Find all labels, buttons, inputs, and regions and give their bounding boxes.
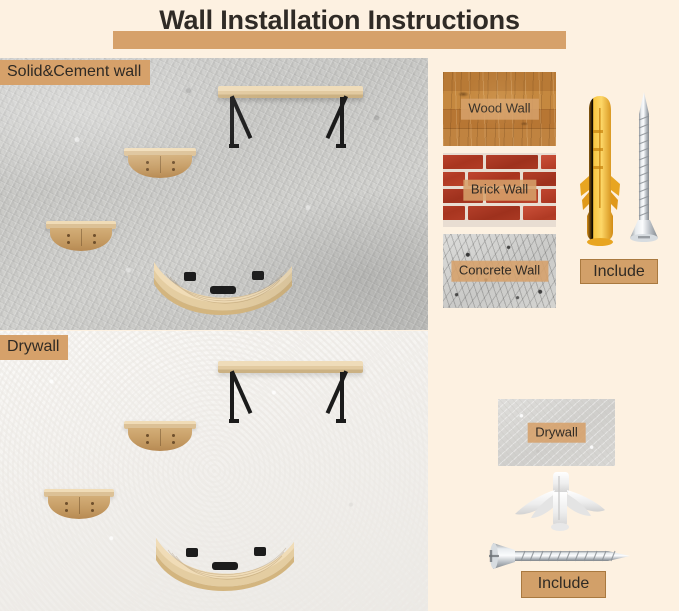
step-screw-hole xyxy=(93,234,96,237)
silver-screw-vertical-icon xyxy=(626,90,662,250)
step-screw-hole xyxy=(172,441,175,444)
step-screw-hole xyxy=(67,241,70,244)
brick xyxy=(443,206,465,220)
step-screw-hole xyxy=(65,509,68,512)
brick xyxy=(468,206,520,220)
product-cat-step-upper-drywall xyxy=(124,421,196,455)
brick xyxy=(486,155,538,169)
swatch-wood-wall: Wood Wall xyxy=(443,72,556,146)
include-label-drywall-hardware: Include xyxy=(521,571,606,598)
brick xyxy=(541,155,556,169)
swatch-concrete-wall: Concrete Wall xyxy=(443,234,556,308)
step-screw-hole xyxy=(146,168,149,171)
step-screw-hole xyxy=(91,509,94,512)
shelf-bracket-left-foot xyxy=(229,419,239,423)
step-screw-hole xyxy=(172,434,175,437)
product-wall-shelf-drywall xyxy=(218,361,363,431)
step-seam xyxy=(160,156,161,173)
product-cat-step-lower-cement xyxy=(46,221,116,255)
shelf-bracket-right-foot xyxy=(336,419,346,423)
include-label-solid-hardware: Include xyxy=(580,259,658,284)
product-cat-bridge-drywall xyxy=(150,534,300,596)
step-screw-hole xyxy=(146,161,149,164)
step-screw-hole xyxy=(65,502,68,505)
shelf-bracket-right-diagonal xyxy=(326,95,348,139)
step-screw-hole xyxy=(146,441,149,444)
swatch-label-concrete-wall: Concrete Wall xyxy=(451,261,548,282)
product-cat-step-lower-drywall xyxy=(44,489,114,523)
product-wall-shelf-cement xyxy=(218,86,363,156)
photo-drywall xyxy=(0,331,428,611)
step-screw-hole xyxy=(172,161,175,164)
photo-solid-cement-wall xyxy=(0,58,428,330)
silver-screw-horizontal-icon xyxy=(485,540,635,572)
white-toggle-anchor-icon xyxy=(505,470,615,540)
step-seam xyxy=(79,497,80,514)
page-title-block: Wall Installation Instructions xyxy=(0,4,679,52)
product-cat-bridge-cement xyxy=(148,258,298,320)
swatch-label-brick-wall: Brick Wall xyxy=(463,180,536,201)
swatch-label-drywall: Drywall xyxy=(527,422,586,443)
swatch-brick-wall: Brick Wall xyxy=(443,153,556,227)
brick xyxy=(443,155,483,169)
panel-label-solid-cement-wall: Solid&Cement wall xyxy=(0,60,150,85)
brick xyxy=(541,189,556,203)
brick xyxy=(443,172,465,186)
panel-label-drywall: Drywall xyxy=(0,335,68,360)
step-seam xyxy=(160,429,161,446)
instruction-graphic: Wall Installation Instructions xyxy=(0,0,679,611)
step-screw-hole xyxy=(93,241,96,244)
page-title: Wall Installation Instructions xyxy=(0,5,679,36)
step-screw-hole xyxy=(67,234,70,237)
step-seam xyxy=(81,229,82,246)
brick xyxy=(523,206,556,220)
yellow-wall-anchor-icon xyxy=(578,92,622,250)
step-screw-hole xyxy=(91,502,94,505)
shelf-bracket-right-diagonal xyxy=(326,370,348,414)
step-screw-hole xyxy=(172,168,175,171)
swatch-label-wood-wall: Wood Wall xyxy=(460,99,538,120)
swatch-drywall-texture: Drywall xyxy=(498,399,615,466)
shelf-bracket-right-foot xyxy=(336,144,346,148)
shelf-bracket-left-foot xyxy=(229,144,239,148)
product-cat-step-upper-cement xyxy=(124,148,196,182)
step-screw-hole xyxy=(146,434,149,437)
